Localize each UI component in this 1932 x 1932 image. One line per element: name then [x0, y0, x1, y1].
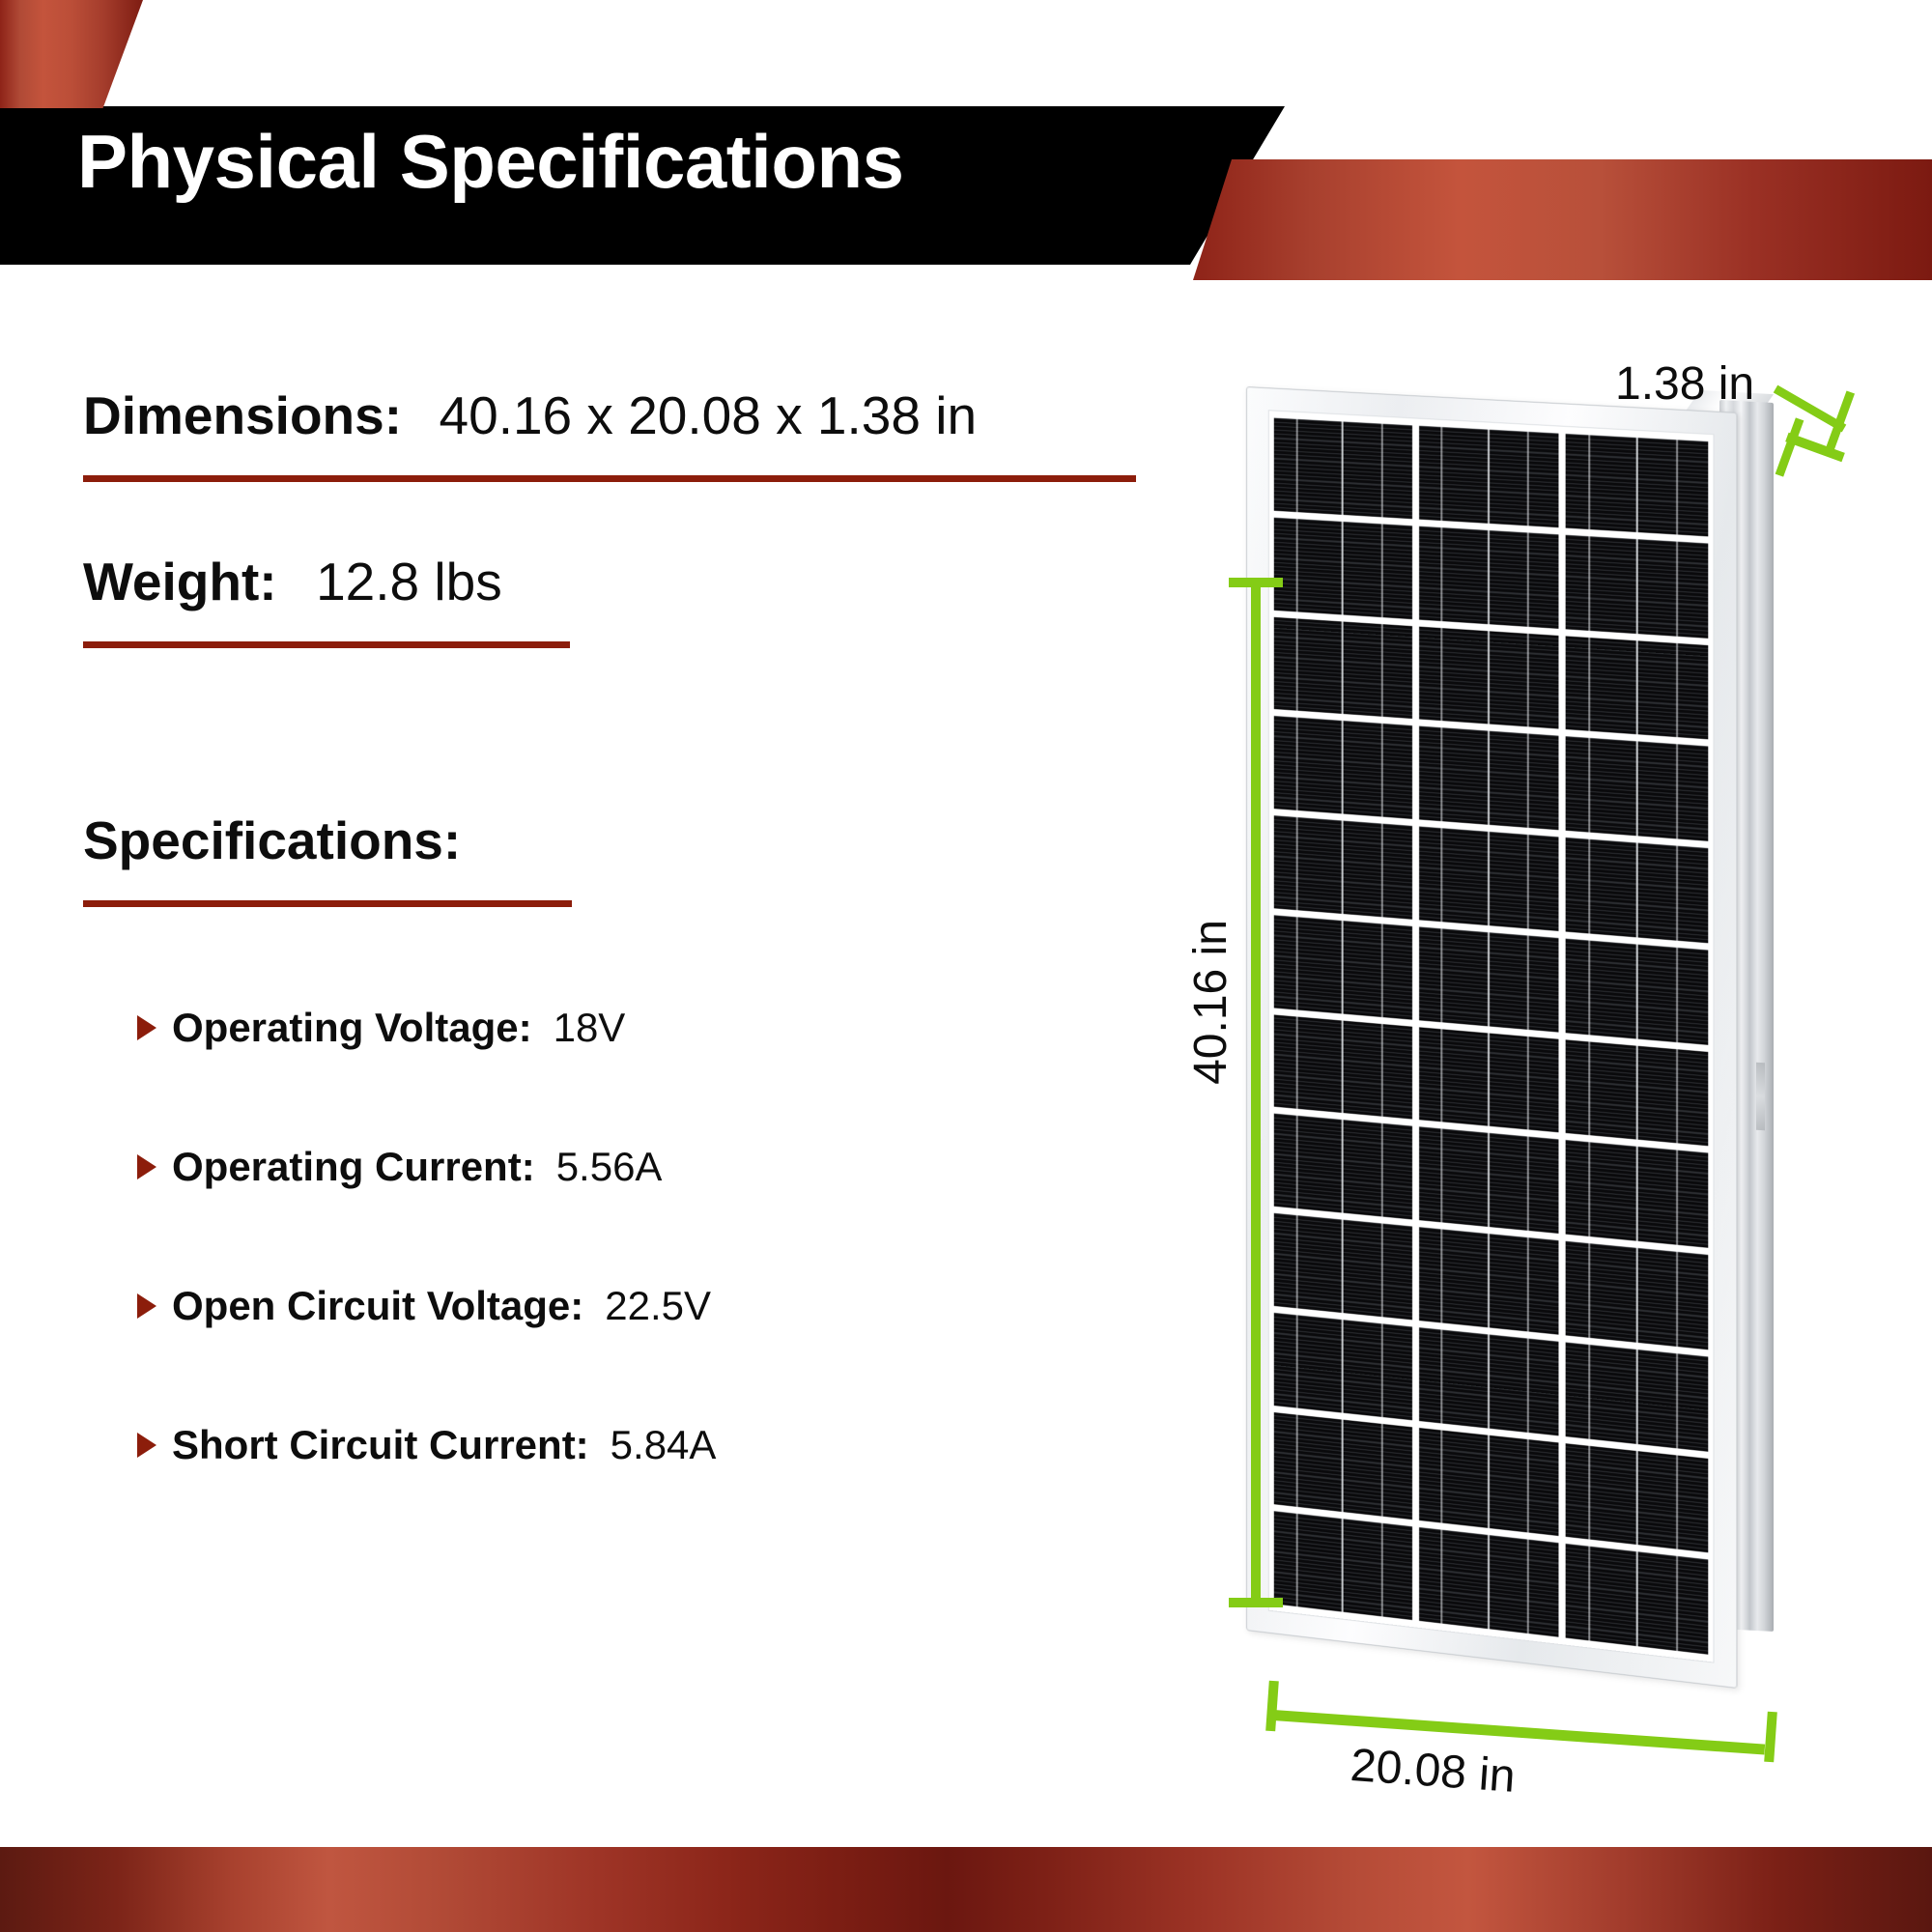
- solar-cell: [1566, 1140, 1708, 1247]
- solar-cell: [1274, 1014, 1412, 1120]
- weight-label: Weight:: [83, 552, 277, 611]
- solar-cell: [1274, 1114, 1412, 1220]
- panel-cell-grid: [1274, 418, 1708, 1655]
- solar-cell: [1419, 726, 1559, 830]
- solar-cell: [1419, 926, 1559, 1032]
- list-item-label: Open Circuit Voltage:: [172, 1283, 583, 1329]
- solar-cell: [1274, 1313, 1412, 1420]
- solar-cell: [1419, 626, 1559, 729]
- solar-cell: [1274, 1213, 1412, 1320]
- solar-cell: [1274, 716, 1412, 819]
- list-item-value: 5.56A: [556, 1144, 663, 1190]
- list-item-label: Operating Current:: [172, 1144, 535, 1190]
- weight-underline: [83, 641, 570, 648]
- list-item-value: 5.84A: [611, 1422, 717, 1468]
- specifications-underline: [83, 900, 572, 907]
- width-dimension-label: 20.08 in: [1349, 1739, 1517, 1804]
- list-item-short-circuit-current: Short Circuit Current: 5.84A: [137, 1422, 716, 1468]
- solar-cell: [1419, 1527, 1559, 1637]
- list-item-value: 18V: [554, 1005, 626, 1051]
- solar-cell: [1274, 616, 1412, 719]
- panel-aluminum-frame: [1246, 386, 1737, 1689]
- solar-cell: [1274, 815, 1412, 919]
- panel-side-mount-hole: [1756, 1063, 1765, 1130]
- list-item-label: Short Circuit Current:: [172, 1422, 589, 1468]
- solar-cell: [1566, 434, 1708, 536]
- list-item-open-circuit-voltage: Open Circuit Voltage: 22.5V: [137, 1283, 711, 1329]
- width-dimension-line: [1273, 1710, 1766, 1755]
- solar-cell: [1566, 1241, 1708, 1350]
- solar-cell: [1419, 526, 1559, 628]
- height-dimension-line: [1251, 580, 1261, 1605]
- solar-cell: [1419, 1027, 1559, 1133]
- list-item-value: 22.5V: [605, 1283, 711, 1329]
- solar-cell: [1419, 826, 1559, 930]
- specifications-heading: Specifications:: [83, 810, 461, 871]
- solar-cell: [1566, 938, 1708, 1044]
- dimensions-label: Dimensions:: [83, 385, 402, 445]
- list-item-label: Operating Voltage:: [172, 1005, 532, 1051]
- weight-row: Weight: 12.8 lbs: [83, 551, 502, 612]
- dimensions-underline: [83, 475, 1136, 482]
- height-dimension-label: 40.16 in: [1184, 920, 1237, 1085]
- solar-cell: [1566, 1544, 1708, 1655]
- triangle-bullet-icon: [137, 1015, 156, 1040]
- solar-cell: [1419, 426, 1559, 527]
- solar-panel-body: [1246, 386, 1748, 1642]
- solar-cell: [1274, 915, 1412, 1019]
- solar-cell: [1566, 534, 1708, 638]
- weight-value: 12.8 lbs: [316, 552, 502, 611]
- solar-cell: [1566, 736, 1708, 840]
- width-dimension-cap-left: [1265, 1681, 1279, 1732]
- footer-accent-bar: [0, 1847, 1932, 1932]
- triangle-bullet-icon: [137, 1154, 156, 1179]
- dimensions-value: 40.16 x 20.08 x 1.38 in: [440, 385, 978, 445]
- solar-cell: [1274, 1412, 1412, 1520]
- solar-cell: [1419, 1428, 1559, 1537]
- page-title: Physical Specifications: [77, 124, 904, 199]
- solar-cell: [1566, 1443, 1708, 1553]
- list-item-operating-voltage: Operating Voltage: 18V: [137, 1005, 625, 1051]
- triangle-bullet-icon: [137, 1293, 156, 1319]
- solar-cell: [1566, 1039, 1708, 1147]
- header-corner-accent: [0, 0, 143, 108]
- solar-cell: [1274, 517, 1412, 618]
- solar-panel-illustration: [1246, 386, 1903, 1642]
- solar-cell: [1566, 838, 1708, 943]
- solar-cell: [1566, 636, 1708, 740]
- solar-cell: [1419, 1327, 1559, 1435]
- height-dimension-cap-top: [1229, 578, 1283, 587]
- header-red-band: [1193, 159, 1932, 280]
- solar-cell: [1419, 1227, 1559, 1334]
- dimensions-row: Dimensions: 40.16 x 20.08 x 1.38 in: [83, 384, 977, 446]
- solar-cell: [1566, 1342, 1708, 1451]
- solar-cell: [1274, 418, 1412, 519]
- list-item-operating-current: Operating Current: 5.56A: [137, 1144, 662, 1190]
- infographic-page: Physical Specifications Dimensions: 40.1…: [0, 0, 1932, 1932]
- solar-cell: [1419, 1126, 1559, 1233]
- triangle-bullet-icon: [137, 1433, 156, 1458]
- height-dimension-cap-bottom: [1229, 1598, 1283, 1607]
- width-dimension-cap-right: [1764, 1712, 1777, 1763]
- solar-cell: [1274, 1511, 1412, 1620]
- thickness-dimension-label: 1.38 in: [1615, 357, 1754, 411]
